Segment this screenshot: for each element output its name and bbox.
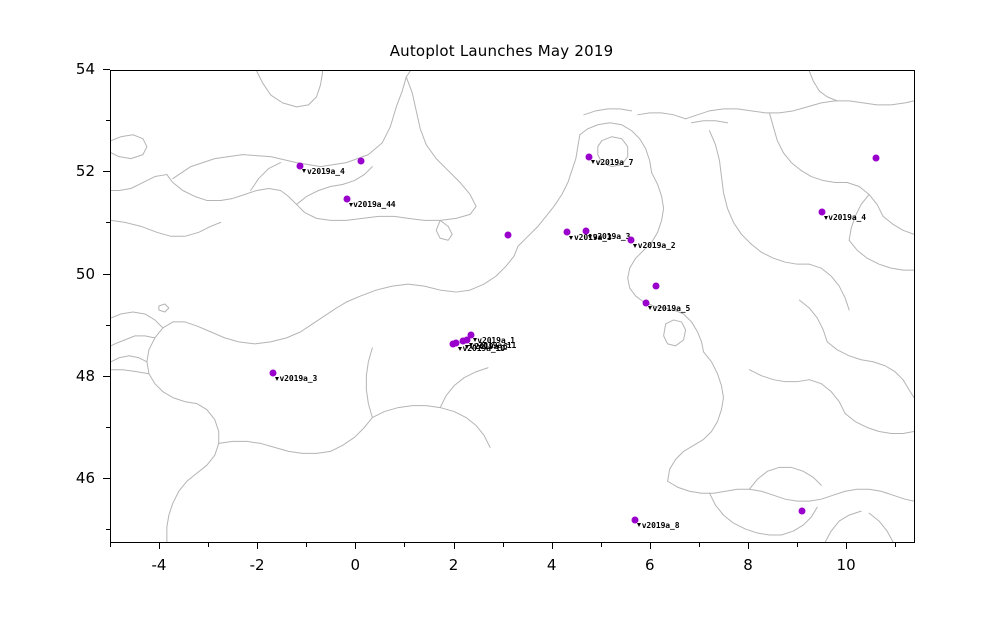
scatter-point-label: v2019a_5 (648, 304, 690, 313)
chart-title: Autoplot Launches May 2019 (0, 42, 1003, 60)
ytick-minor (106, 529, 110, 530)
xtick-minor (797, 543, 798, 547)
xtick-major (454, 543, 455, 549)
xtick-minor (404, 543, 405, 547)
ytick-label: 48 (35, 367, 95, 385)
label-pointer-icon (591, 160, 595, 164)
ytick-label: 54 (35, 60, 95, 78)
scatter-point (358, 158, 365, 165)
scatter-point-label: v2019a_4 (824, 213, 866, 222)
xtick-major (257, 543, 258, 549)
ytick-minor (106, 120, 110, 121)
xtick-minor (601, 543, 602, 547)
ytick-label: 50 (35, 265, 95, 283)
label-text: v2019a_44 (353, 200, 395, 209)
label-pointer-icon (302, 169, 306, 173)
scatter-point (504, 231, 511, 238)
scatter-point (449, 341, 456, 348)
xtick-major (355, 543, 356, 549)
scatter-point-label: v2019a_10 (458, 344, 505, 353)
label-text: v2019a_10 (463, 344, 505, 353)
xtick-major (159, 543, 160, 549)
xtick-label: 10 (816, 556, 876, 574)
xtick-label: 2 (424, 556, 484, 574)
label-text: v2019a_2 (638, 241, 676, 250)
label-pointer-icon (588, 235, 592, 239)
ytick-major (103, 478, 110, 479)
label-pointer-icon (633, 244, 637, 248)
scatter-point-label: v2019a_44 (349, 200, 396, 209)
ytick-major (103, 274, 110, 275)
figure-canvas: Autoplot Launches May 2019 (0, 0, 1003, 633)
scatter-point-label: v2019a_3 (588, 232, 630, 241)
xtick-minor (699, 543, 700, 547)
map-plot-area[interactable] (110, 70, 915, 543)
xtick-major (846, 543, 847, 549)
xtick-major (650, 543, 651, 549)
xtick-minor (110, 543, 111, 547)
ytick-minor (106, 222, 110, 223)
label-text: v2019a_3 (279, 374, 317, 383)
label-text: v2019a_4 (828, 213, 866, 222)
label-pointer-icon (569, 236, 573, 240)
label-text: v2019a_4 (307, 167, 345, 176)
scatter-point (799, 507, 806, 514)
ytick-major (103, 171, 110, 172)
xtick-label: 6 (620, 556, 680, 574)
xtick-major (748, 543, 749, 549)
xtick-label: 8 (718, 556, 778, 574)
label-text: v2019a_8 (642, 521, 680, 530)
xtick-label: 4 (522, 556, 582, 574)
ytick-major (103, 376, 110, 377)
scatter-point-label: v2019a_7 (591, 158, 633, 167)
xtick-minor (208, 543, 209, 547)
label-pointer-icon (349, 203, 353, 207)
ytick-minor (106, 325, 110, 326)
scatter-point (652, 282, 659, 289)
ytick-minor (106, 427, 110, 428)
scatter-point-label: v2019a_3 (275, 374, 317, 383)
coastline-layer (111, 71, 914, 542)
scatter-point-label: v2019a_4 (302, 167, 344, 176)
label-text: v2019a_5 (653, 304, 691, 313)
ytick-label: 46 (35, 469, 95, 487)
xtick-minor (306, 543, 307, 547)
scatter-point-label: v2019a_8 (637, 521, 679, 530)
scatter-point (872, 155, 879, 162)
label-pointer-icon (458, 347, 462, 351)
label-text: v2019a_7 (596, 158, 634, 167)
label-text: v2019a_3 (593, 232, 631, 241)
scatter-point-label: v2019a_2 (633, 241, 675, 250)
xtick-label: -4 (129, 556, 189, 574)
xtick-label: 0 (325, 556, 385, 574)
xtick-minor (503, 543, 504, 547)
xtick-major (552, 543, 553, 549)
ytick-major (103, 69, 110, 70)
label-pointer-icon (637, 523, 641, 527)
ytick-label: 52 (35, 162, 95, 180)
label-pointer-icon (648, 306, 652, 310)
xtick-label: -2 (227, 556, 287, 574)
xtick-minor (895, 543, 896, 547)
